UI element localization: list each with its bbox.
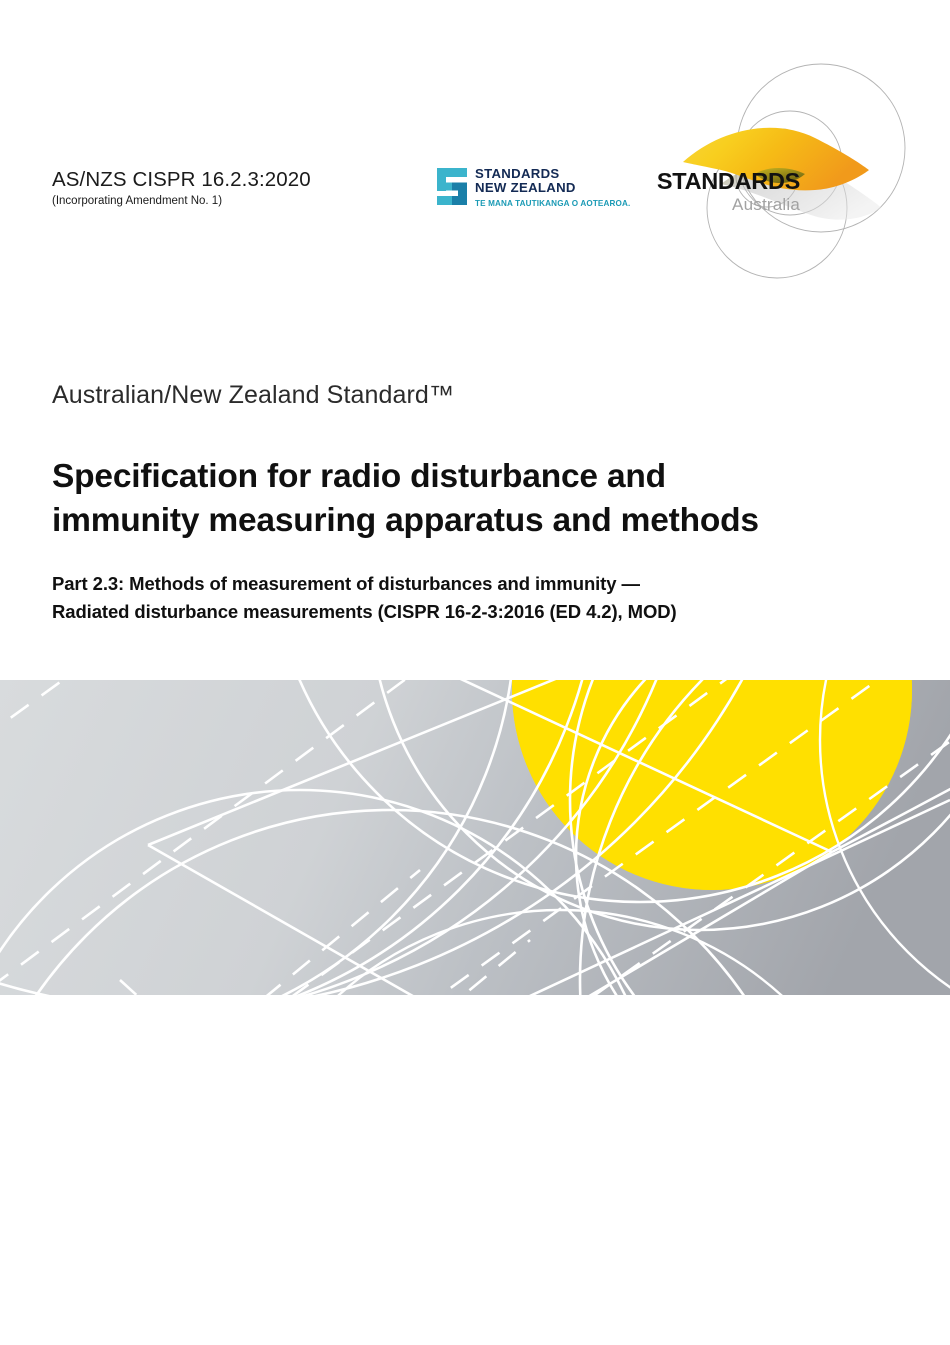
page-subtitle-line-1: Part 2.3: Methods of measurement of dist… xyxy=(52,570,902,597)
page-title-line-1: Specification for radio disturbance and xyxy=(52,455,902,499)
standards-nz-line1: STANDARDS xyxy=(475,167,635,181)
page-subtitle-line-2: Radiated disturbance measurements (CISPR… xyxy=(52,598,902,625)
standard-type-label: Australian/New Zealand Standard™ xyxy=(52,380,902,411)
standards-australia-logo: STANDARDS Australia xyxy=(655,58,950,298)
standards-nz-line2: NEW ZEALAND xyxy=(475,181,635,195)
standards-nz-wordmark: STANDARDS NEW ZEALAND TE MANA TAUTIKANGA… xyxy=(475,167,635,208)
standards-australia-secondary-text: Australia xyxy=(655,196,800,213)
standards-new-zealand-logo: STANDARDS NEW ZEALAND TE MANA TAUTIKANGA… xyxy=(437,167,607,209)
standards-australia-primary-text: STANDARDS xyxy=(655,170,800,194)
cover-title-block: Australian/New Zealand Standard™ Specifi… xyxy=(52,380,902,625)
standards-australia-wordmark: STANDARDS Australia xyxy=(655,170,800,213)
page-subtitle: Part 2.3: Methods of measurement of dist… xyxy=(52,570,902,625)
cover-header: AS/NZS CISPR 16.2.3:2020 (Incorporating … xyxy=(0,0,950,300)
standards-nz-block-mark-icon xyxy=(437,168,467,205)
standards-nz-maori-tagline: TE MANA TAUTIKANGA O AOTEAROA. xyxy=(475,198,630,208)
document-amendment-note: (Incorporating Amendment No. 1) xyxy=(52,195,311,209)
document-number: AS/NZS CISPR 16.2.3:2020 xyxy=(52,168,311,192)
cover-graphic-band xyxy=(0,680,950,995)
page-title: Specification for radio disturbance and … xyxy=(52,455,902,542)
document-reference: AS/NZS CISPR 16.2.3:2020 (Incorporating … xyxy=(52,168,311,208)
page-title-line-2: immunity measuring apparatus and methods xyxy=(52,499,902,543)
